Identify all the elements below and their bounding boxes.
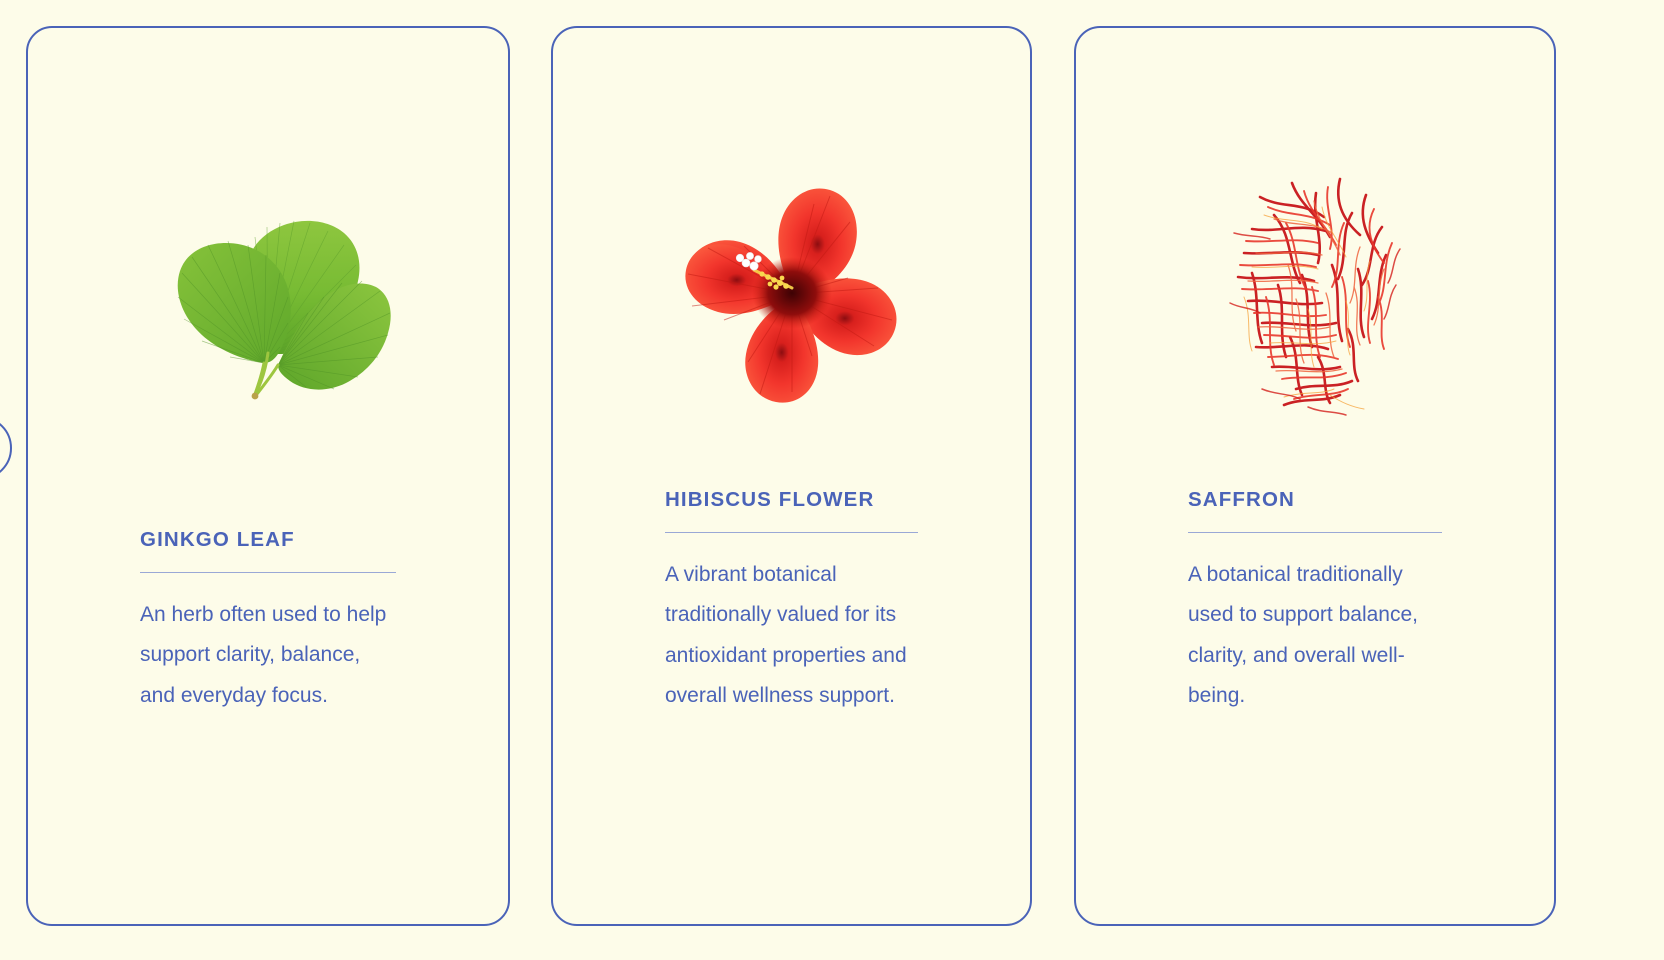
card-body: SAFFRON A botanical traditionally used t…	[1076, 488, 1554, 717]
hibiscus-flower-photo	[553, 132, 1030, 452]
card-divider	[1188, 532, 1442, 533]
ginkgo-leaf-photo	[28, 132, 508, 452]
card-title: HIBISCUS FLOWER	[665, 488, 918, 513]
ingredient-card-ginkgo-leaf[interactable]: GINKGO LEAF An herb often used to help s…	[26, 26, 510, 926]
card-description: A botanical traditionally used to suppor…	[1188, 555, 1438, 717]
ingredient-carousel: GINKGO LEAF An herb often used to help s…	[0, 0, 1664, 960]
ingredient-card-saffron[interactable]: SAFFRON A botanical traditionally used t…	[1074, 26, 1556, 926]
carousel-prev-button[interactable]	[0, 416, 12, 480]
card-body: HIBISCUS FLOWER A vibrant botanical trad…	[553, 488, 1030, 717]
card-description: An herb often used to help support clari…	[140, 595, 396, 717]
card-title: SAFFRON	[1188, 488, 1442, 513]
card-title: GINKGO LEAF	[140, 528, 396, 553]
card-body: GINKGO LEAF An herb often used to help s…	[28, 528, 508, 716]
card-divider	[665, 532, 918, 533]
saffron-threads-photo	[1076, 132, 1554, 452]
card-description: A vibrant botanical traditionally valued…	[665, 555, 918, 717]
ingredient-card-hibiscus-flower[interactable]: HIBISCUS FLOWER A vibrant botanical trad…	[551, 26, 1032, 926]
card-divider	[140, 572, 396, 573]
